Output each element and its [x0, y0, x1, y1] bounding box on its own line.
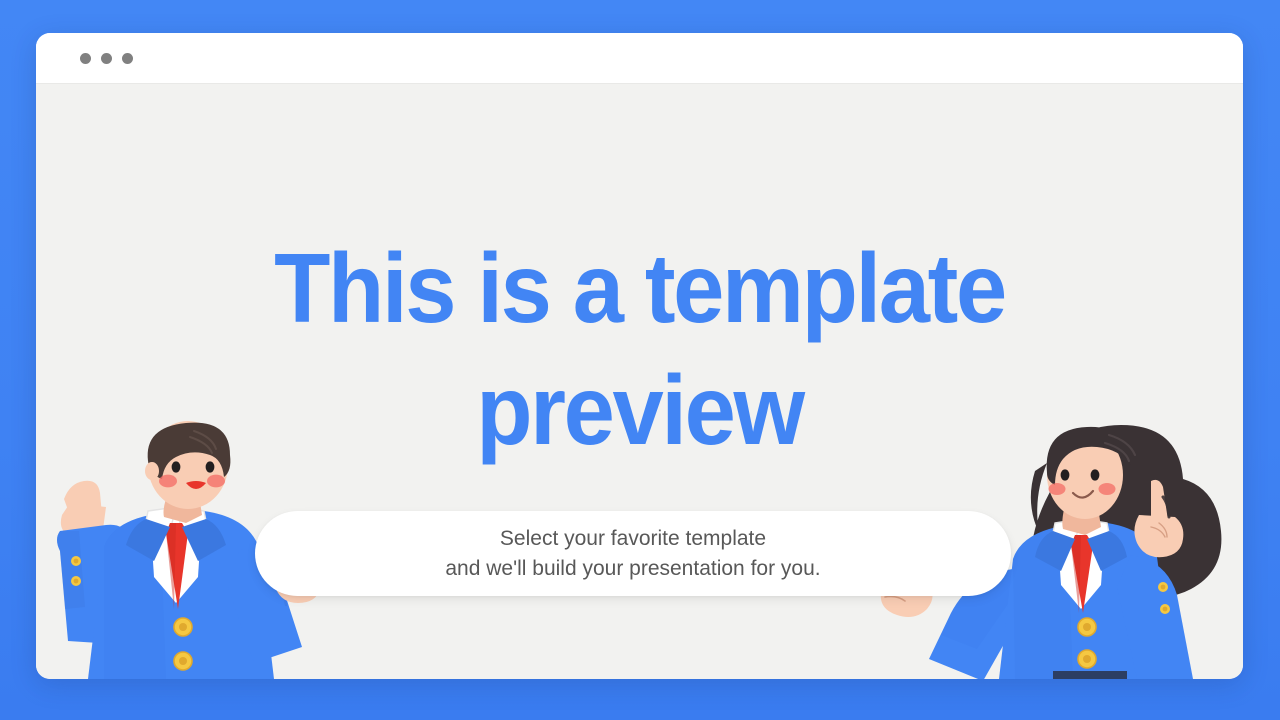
slide-canvas: This is a template preview Select your f… — [36, 84, 1243, 679]
window-dot-close-icon[interactable] — [80, 53, 91, 64]
subtitle-pill: Select your favorite template and we'll … — [255, 511, 1011, 596]
window-dot-maximize-icon[interactable] — [122, 53, 133, 64]
subtitle-line-1: Select your favorite template — [500, 524, 766, 554]
window-dot-minimize-icon[interactable] — [101, 53, 112, 64]
subtitle-line-2: and we'll build your presentation for yo… — [445, 554, 820, 584]
window-controls — [80, 53, 133, 64]
window-titlebar — [36, 33, 1243, 84]
browser-window: This is a template preview Select your f… — [36, 33, 1243, 679]
boy-head — [145, 421, 230, 523]
slide-title-line-1: This is a template — [72, 227, 1207, 349]
